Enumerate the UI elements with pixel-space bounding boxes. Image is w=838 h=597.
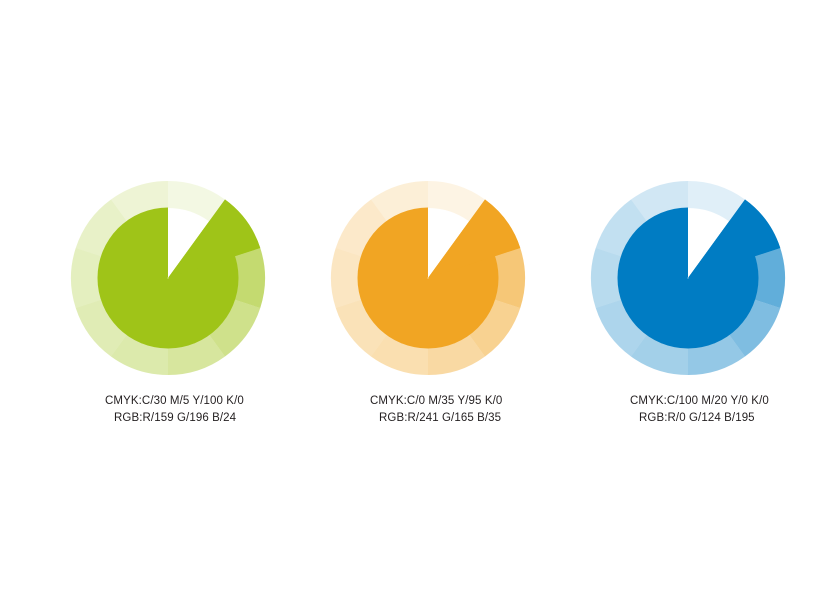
blue-caption: CMYK:C/100 M/20 Y/0 K/0RGB:R/0 G/124 B/1… <box>630 393 769 427</box>
orange-ring-segment-2 <box>495 248 525 308</box>
green-color-wheel <box>69 179 267 377</box>
orange-cmyk-label: CMYK:C/0 M/35 Y/95 K/0 <box>370 393 502 410</box>
green-rgb-label: RGB:R/159 G/196 B/24 <box>105 410 244 427</box>
orange-caption: CMYK:C/0 M/35 Y/95 K/0RGB:R/241 G/165 B/… <box>370 393 502 427</box>
palette-canvas: CMYK:C/30 M/5 Y/100 K/0RGB:R/159 G/196 B… <box>0 0 838 597</box>
blue-cmyk-label: CMYK:C/100 M/20 Y/0 K/0 <box>630 393 769 410</box>
blue-rgb-label: RGB:R/0 G/124 B/195 <box>630 410 769 427</box>
blue-color-wheel <box>589 179 787 377</box>
orange-ring-segment-7 <box>331 248 361 308</box>
blue-ring-segment-7 <box>591 248 621 308</box>
blue-ring-segment-2 <box>755 248 785 308</box>
green-cmyk-label: CMYK:C/30 M/5 Y/100 K/0 <box>105 393 244 410</box>
green-caption: CMYK:C/30 M/5 Y/100 K/0RGB:R/159 G/196 B… <box>105 393 244 427</box>
orange-rgb-label: RGB:R/241 G/165 B/35 <box>370 410 502 427</box>
green-ring-segment-7 <box>71 248 101 308</box>
green-ring-segment-2 <box>235 248 265 308</box>
orange-color-wheel <box>329 179 527 377</box>
